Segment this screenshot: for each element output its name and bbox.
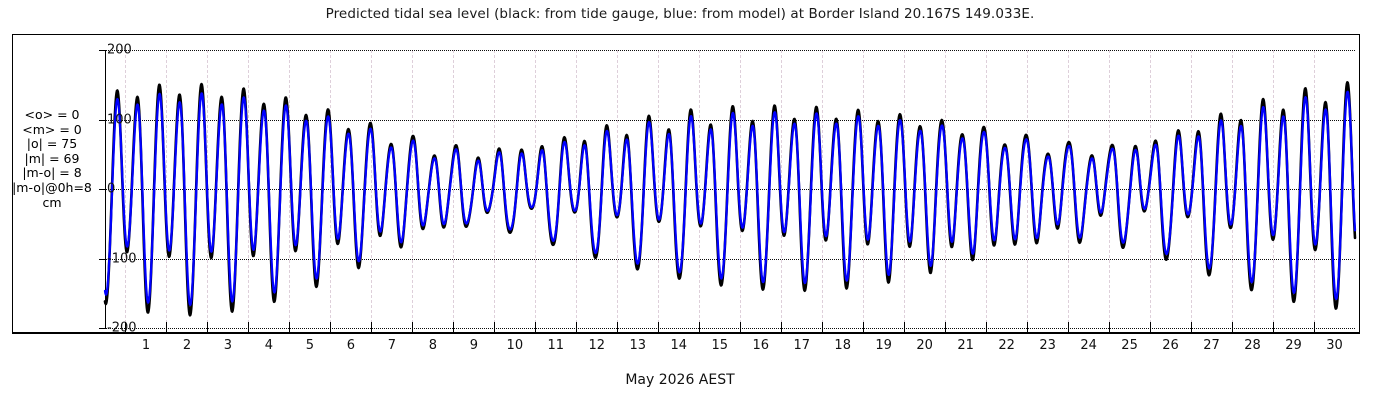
x-axis-title: May 2026 AEST (0, 372, 1360, 388)
y-tick-mark (99, 259, 105, 260)
x-tick-mark (904, 322, 905, 334)
x-tick-mark (1314, 322, 1315, 334)
x-tick-mark (289, 322, 290, 334)
x-tick-mark (248, 322, 249, 334)
plot-area (105, 50, 1355, 328)
x-tick-label: 18 (834, 338, 851, 353)
x-tick-label: 25 (1121, 338, 1138, 353)
statistics-block: <o> = 0 <m> = 0 |o| = 75 |m| = 69 |m-o| … (6, 108, 98, 210)
stat-units: cm (6, 196, 98, 211)
x-tick-label: 23 (1039, 338, 1056, 353)
x-tick-mark (494, 322, 495, 334)
y-tick-label: -100 (107, 252, 137, 265)
y-tick-label: 200 (107, 44, 132, 57)
x-tick-label: 21 (957, 338, 974, 353)
x-tick-mark (1109, 322, 1110, 334)
y-tick-mark (99, 50, 105, 51)
hgridline (105, 328, 1355, 329)
x-tick-mark (1273, 322, 1274, 334)
x-tick-label: 8 (429, 338, 437, 353)
x-tick-label: 11 (548, 338, 565, 353)
x-tick-mark (986, 322, 987, 334)
stat-mean-model: <m> = 0 (6, 123, 98, 138)
x-tick-mark (945, 322, 946, 334)
x-tick-mark (699, 322, 700, 334)
x-tick-label: 16 (752, 338, 769, 353)
x-tick-mark (453, 322, 454, 334)
y-tick-mark (99, 120, 105, 121)
x-tick-mark (863, 322, 864, 334)
x-tick-label: 4 (265, 338, 273, 353)
x-tick-mark (576, 322, 577, 334)
x-tick-label: 26 (1162, 338, 1179, 353)
x-tick-mark (1150, 322, 1151, 334)
stat-abs-diff-0h: |m-o|@0h=8 (6, 181, 98, 196)
x-tick-mark (658, 322, 659, 334)
x-tick-label: 24 (1080, 338, 1097, 353)
x-tick-label: 2 (183, 338, 191, 353)
x-tick-label: 1 (142, 338, 150, 353)
x-tick-label: 14 (670, 338, 687, 353)
stat-abs-obs: |o| = 75 (6, 137, 98, 152)
x-tick-mark (1027, 322, 1028, 334)
y-tick-mark (99, 328, 105, 329)
x-tick-mark (617, 322, 618, 334)
x-tick-label: 12 (589, 338, 606, 353)
x-tick-mark (125, 322, 126, 334)
y-tick-mark (99, 189, 105, 190)
series-plot (105, 50, 1355, 328)
x-tick-label: 17 (793, 338, 810, 353)
x-tick-label: 13 (630, 338, 647, 353)
x-tick-mark (1068, 322, 1069, 334)
x-tick-label: 19 (875, 338, 892, 353)
x-tick-mark (166, 322, 167, 334)
x-tick-label: 28 (1244, 338, 1261, 353)
series-line-model (105, 92, 1355, 305)
x-tick-label: 30 (1326, 338, 1343, 353)
x-tick-mark (1191, 322, 1192, 334)
x-tick-label: 27 (1203, 338, 1220, 353)
x-tick-label: 15 (711, 338, 728, 353)
x-tick-mark (207, 322, 208, 334)
credit-container: © IMOS 26-Oct-2025 08:41:32. *Not for na… (1362, 0, 1400, 400)
x-axis-line (12, 333, 1360, 334)
tidal-chart-figure: Predicted tidal sea level (black: from t… (0, 0, 1400, 400)
x-tick-mark (781, 322, 782, 334)
x-tick-label: 6 (347, 338, 355, 353)
x-tick-label: 29 (1285, 338, 1302, 353)
x-tick-label: 5 (306, 338, 314, 353)
x-tick-mark (330, 322, 331, 334)
x-tick-label: 20 (916, 338, 933, 353)
x-tick-mark (371, 322, 372, 334)
x-tick-mark (1232, 322, 1233, 334)
stat-abs-diff: |m-o| = 8 (6, 166, 98, 181)
stat-abs-model: |m| = 69 (6, 152, 98, 167)
y-tick-label: 0 (107, 183, 115, 196)
stat-mean-obs: <o> = 0 (6, 108, 98, 123)
x-tick-label: 22 (998, 338, 1015, 353)
y-tick-label: 100 (107, 113, 132, 126)
x-tick-mark (535, 322, 536, 334)
chart-title: Predicted tidal sea level (black: from t… (0, 6, 1360, 22)
x-tick-label: 9 (470, 338, 478, 353)
x-tick-mark (822, 322, 823, 334)
x-tick-label: 7 (388, 338, 396, 353)
x-tick-label: 3 (224, 338, 232, 353)
x-tick-label: 10 (507, 338, 524, 353)
x-tick-mark (412, 322, 413, 334)
x-tick-mark (740, 322, 741, 334)
